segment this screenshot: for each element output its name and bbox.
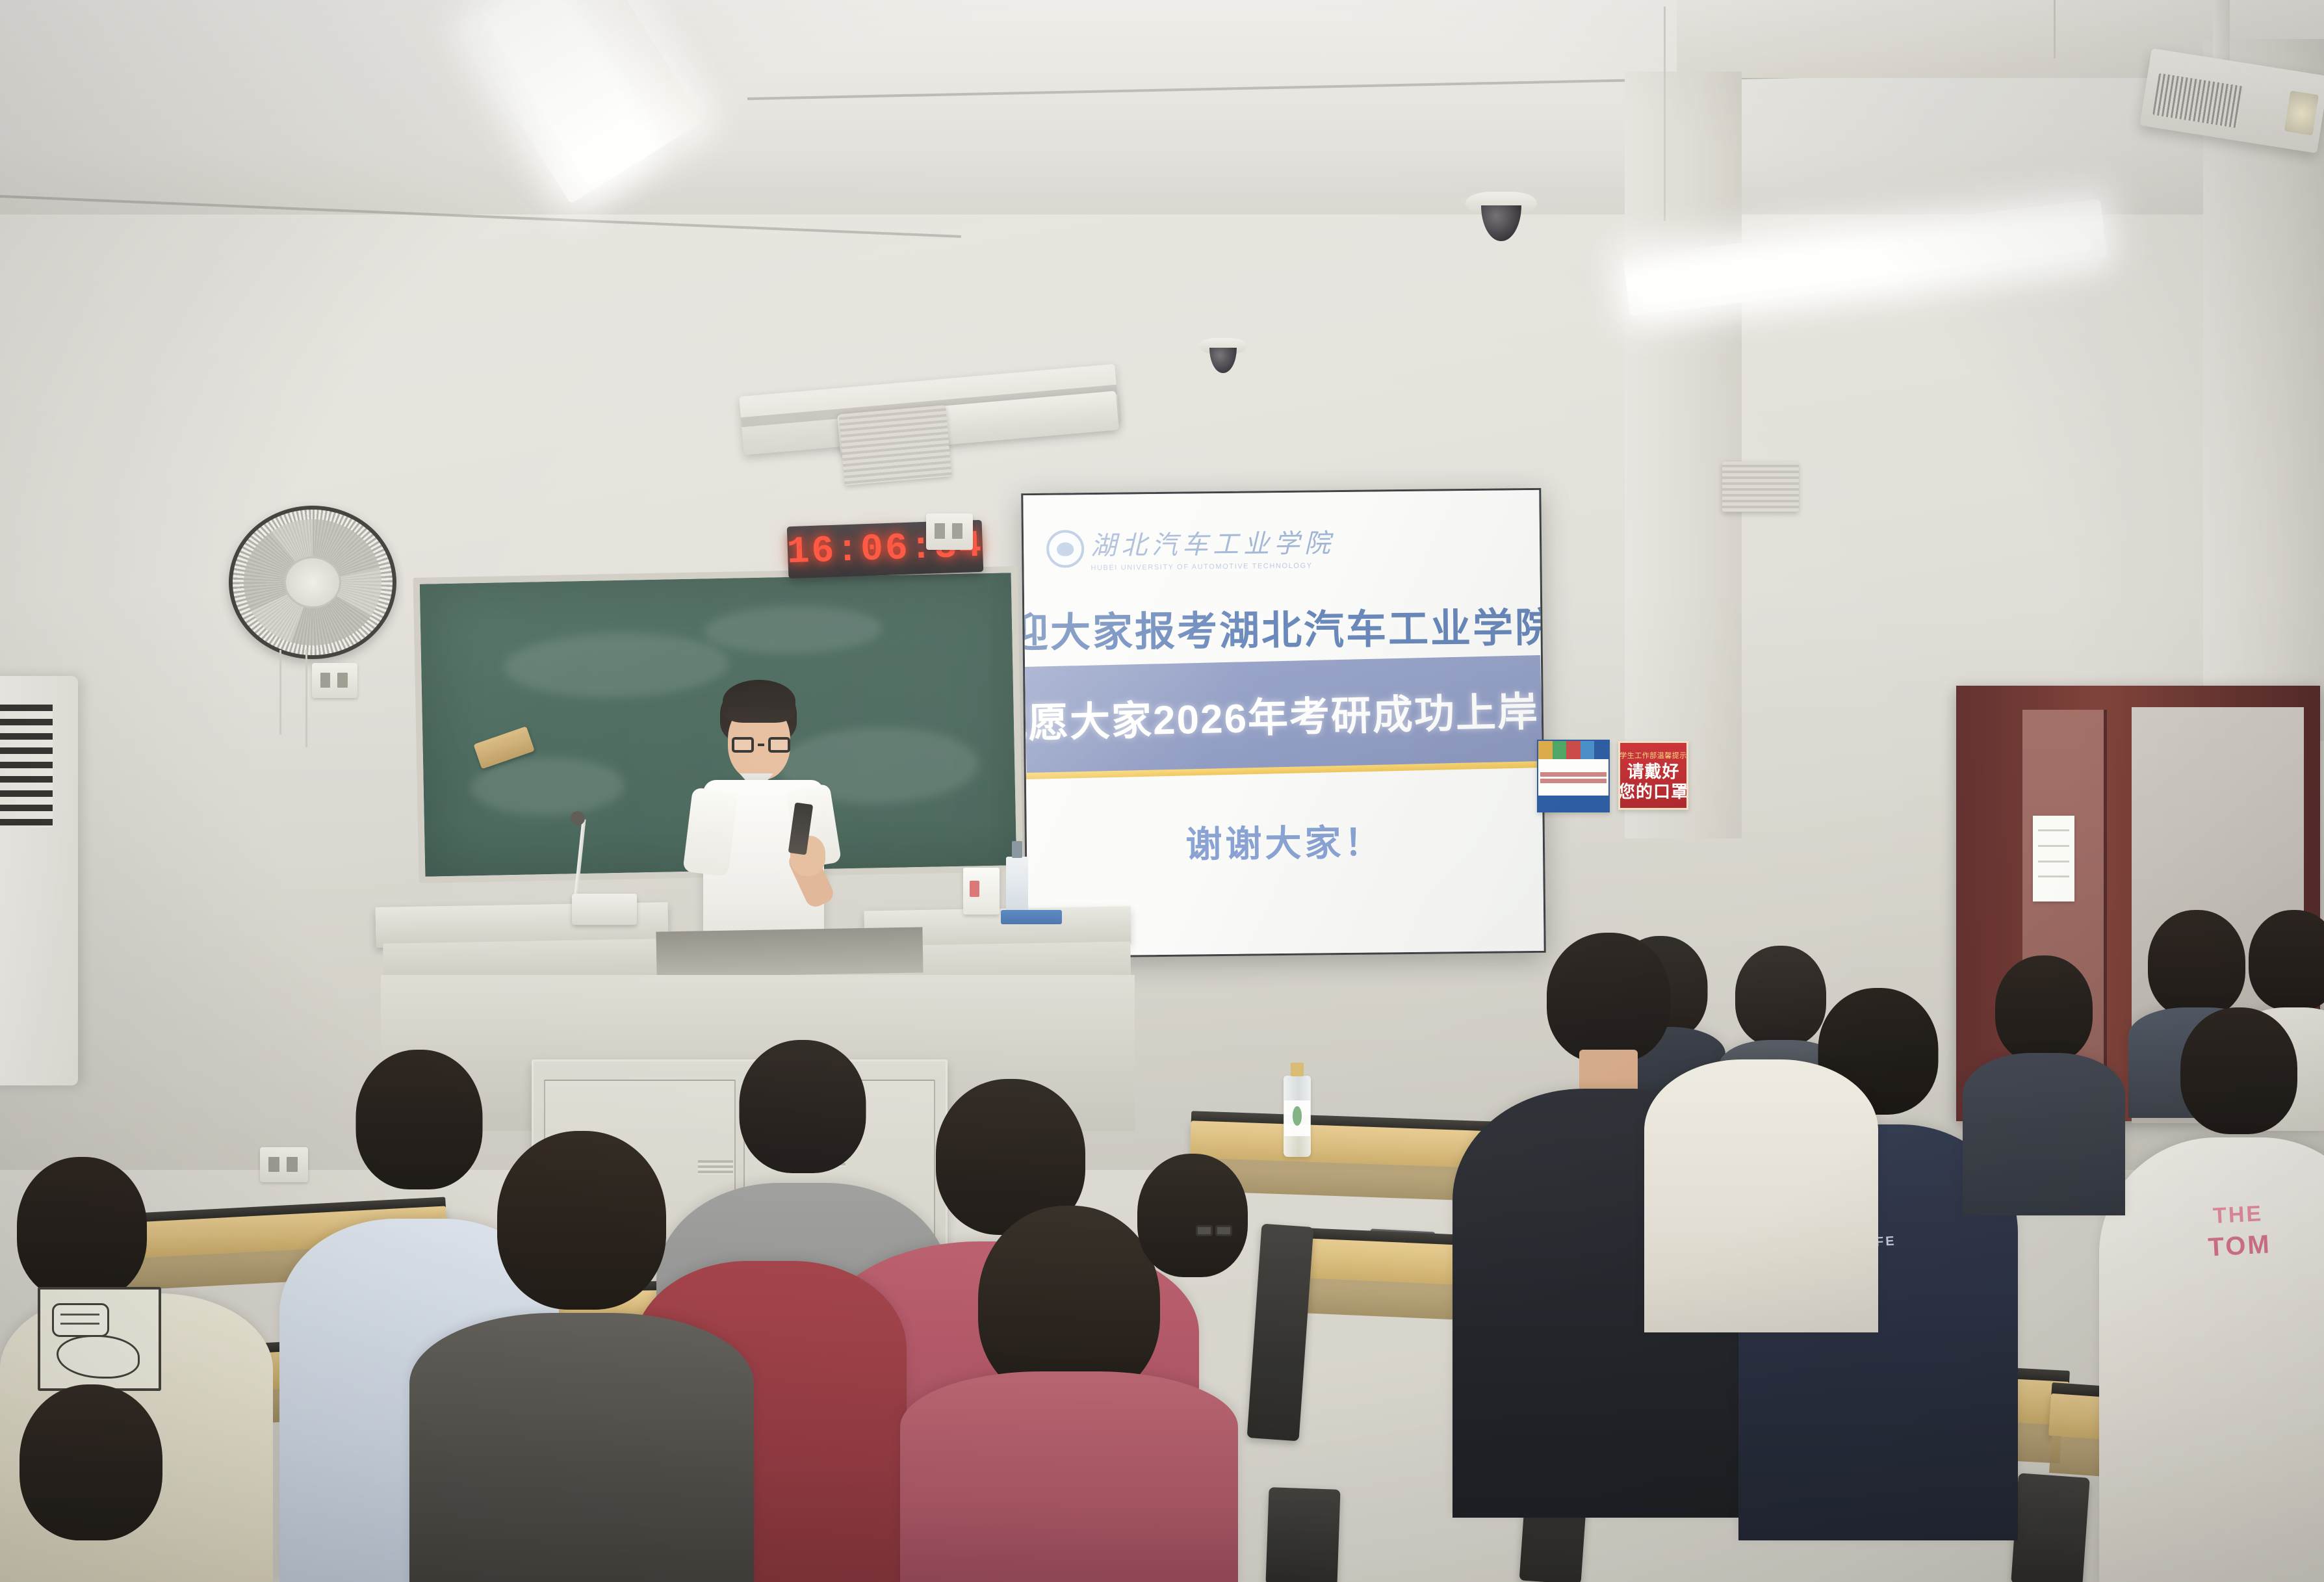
blue-desk-tray xyxy=(1001,910,1062,924)
student-torso xyxy=(900,1371,1238,1582)
comic-character xyxy=(57,1335,139,1379)
ac-vents xyxy=(0,705,53,827)
gooseneck-mic-head xyxy=(571,811,585,825)
presenter-hair-top xyxy=(723,680,795,723)
university-logo: 湖北汽车工业学院 HUBEI UNIVERSITY OF AUTOMOTIVE … xyxy=(1046,522,1336,573)
dome-camera-left xyxy=(1199,338,1247,373)
mask-reminder-sign: 学生工作部温馨提示 请戴好 您的口罩 xyxy=(1618,741,1688,810)
student-white-right: THE TOM xyxy=(2099,1007,2324,1582)
notice-body xyxy=(1538,759,1608,796)
student-glasses-icon xyxy=(1196,1225,1232,1236)
fan-pull-cord xyxy=(305,650,307,747)
door-notice-paper xyxy=(2033,816,2074,901)
logo-name-cn: 湖北汽车工业学院 xyxy=(1091,522,1336,562)
slide-line-1-text: 欢迎大家报考湖北汽车工业学院！ xyxy=(1021,593,1545,658)
student-head xyxy=(19,1384,162,1540)
notice-footer-bar xyxy=(1538,796,1608,811)
logo-emblem-icon xyxy=(1046,530,1085,568)
chair-back[interactable] xyxy=(1265,1487,1340,1582)
audio-amplifier-box xyxy=(572,894,637,925)
logo-name-en: HUBEI UNIVERSITY OF AUTOMOTIVE TECHNOLOG… xyxy=(1091,562,1335,572)
podium-recess xyxy=(656,927,923,977)
comic-speech-bubble xyxy=(52,1303,109,1337)
power-outlet-left xyxy=(312,663,357,698)
slide-wish-line: 祝愿大家2026年考研成功上岸！ xyxy=(1024,664,1542,764)
light-hanger xyxy=(1664,6,1666,221)
notice-header-bar xyxy=(1538,741,1608,759)
student-head xyxy=(497,1131,666,1310)
wall-speaker xyxy=(839,405,952,486)
presenter xyxy=(663,682,858,955)
wall-fan xyxy=(229,506,396,659)
student-head xyxy=(2180,1007,2297,1134)
student-torso xyxy=(1963,1053,2125,1215)
student-near-door xyxy=(1963,955,2125,1215)
slide-welcome-line: 欢迎大家报考湖北汽车工业学院！ xyxy=(1024,584,1541,668)
slide-line-3-text: 谢谢大家！ xyxy=(1185,813,1384,868)
tissue-box xyxy=(963,868,1000,914)
student-head xyxy=(2249,910,2324,1011)
mask-sign-line-2: 您的口罩 xyxy=(1618,783,1688,801)
mask-sign-header: 学生工作部温馨提示 xyxy=(1620,750,1687,760)
student-dark-hair-front xyxy=(409,1131,754,1582)
classroom-notice-board xyxy=(1537,740,1610,812)
student-white-tee-right xyxy=(1644,968,1878,1332)
tee-comic-panel-graphic xyxy=(38,1287,161,1391)
fan-hub xyxy=(284,556,341,608)
student-foreground-left xyxy=(0,1384,208,1582)
presentation-slide: 湖北汽车工业学院 HUBEI UNIVERSITY OF AUTOMOTIVE … xyxy=(1023,490,1543,956)
slide-thanks-line: 谢谢大家！ xyxy=(1026,803,1543,878)
student-head xyxy=(1995,955,2093,1063)
air-conditioner xyxy=(0,676,78,1085)
water-bottle xyxy=(1284,1076,1311,1157)
wall-speaker-right xyxy=(1722,461,1799,512)
light-hanger xyxy=(2054,0,2056,58)
student-with-glasses-mid xyxy=(1098,1154,1287,1375)
student-head xyxy=(17,1157,147,1300)
tee-print-text-pink: THE TOM xyxy=(2206,1201,2272,1263)
classroom-photo: 湖北汽车工业学院 HUBEI UNIVERSITY OF AUTOMOTIVE … xyxy=(0,0,2324,1582)
dome-camera-center xyxy=(1465,192,1537,241)
fan-pull-cord xyxy=(279,650,281,734)
spray-bottle xyxy=(1006,857,1028,916)
student-head xyxy=(1137,1154,1248,1277)
projection-screen: 湖北汽车工业学院 HUBEI UNIVERSITY OF AUTOMOTIVE … xyxy=(1021,488,1545,958)
chair-back[interactable] xyxy=(2011,1473,2090,1582)
power-outlet-wall xyxy=(926,513,973,550)
mask-sign-line-1: 请戴好 xyxy=(1627,763,1679,781)
student-head xyxy=(2148,910,2245,1017)
student-torso xyxy=(409,1313,754,1582)
student-torso xyxy=(1644,1059,1878,1332)
presenter-glasses-icon xyxy=(732,737,790,753)
slide-line-2-text: 祝愿大家2026年考研成功上岸！ xyxy=(1021,678,1545,750)
